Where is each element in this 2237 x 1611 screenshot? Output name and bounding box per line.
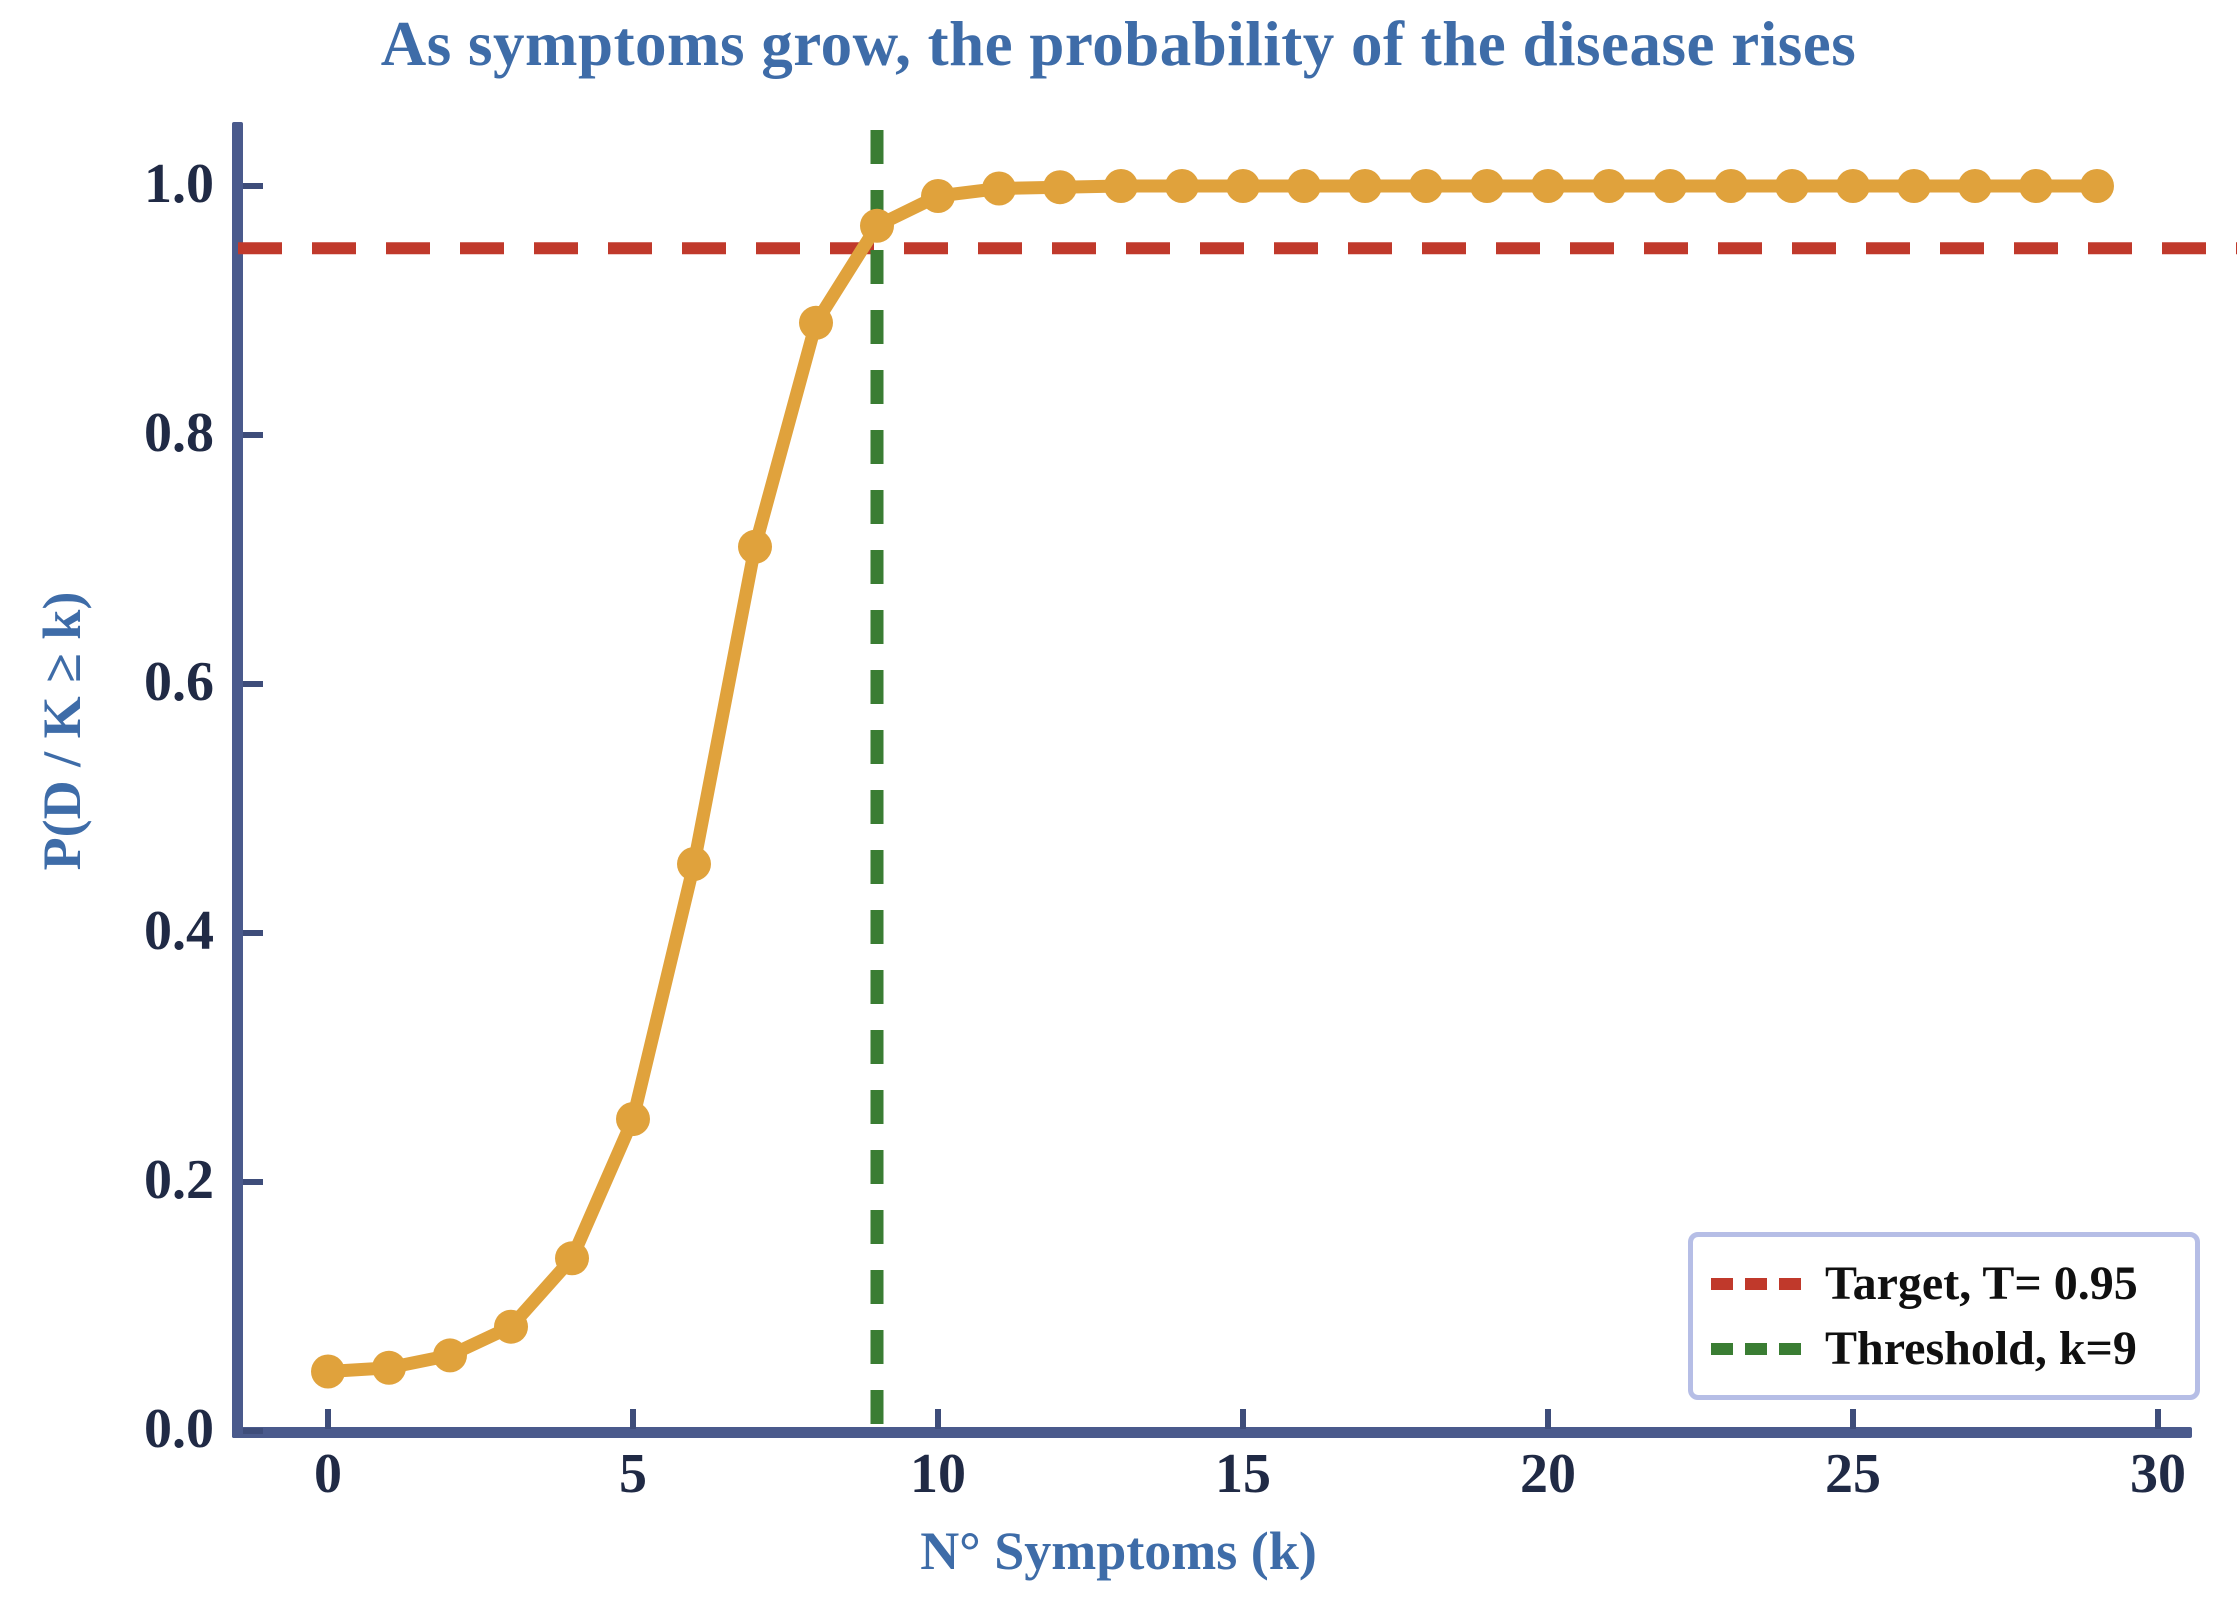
y-tick-label-0.2: 0.2 [24, 1148, 214, 1212]
y-tick-0.8 [243, 432, 263, 438]
data-point [982, 172, 1016, 206]
x-tick-0 [325, 1409, 331, 1429]
data-point [433, 1338, 467, 1372]
x-tick-label-30: 30 [2098, 1442, 2218, 1506]
legend-item-target[interactable]: Target, T= 0.95 [1711, 1253, 2177, 1315]
x-axis-spine [232, 1427, 2192, 1438]
x-tick-label-20: 20 [1488, 1442, 1608, 1506]
data-point [677, 847, 711, 881]
data-point [1165, 169, 1199, 203]
green-dashed-swatch-icon [1711, 1343, 1807, 1355]
data-point [2019, 169, 2053, 203]
y-tick-0.0 [243, 1428, 263, 1434]
y-tick-0.4 [243, 930, 263, 936]
red-dashed-swatch-icon [1711, 1278, 1807, 1290]
data-point [1287, 169, 1321, 203]
data-point [1531, 169, 1565, 203]
data-point [1409, 169, 1443, 203]
y-tick-0.6 [243, 681, 263, 687]
data-point [1958, 169, 1992, 203]
data-point [921, 179, 955, 213]
x-tick-30 [2155, 1409, 2161, 1429]
data-point [1592, 169, 1626, 203]
data-point [1714, 169, 1748, 203]
data-point [860, 209, 894, 243]
data-point [799, 306, 833, 340]
y-tick-1.0 [243, 183, 263, 189]
data-point [555, 1241, 589, 1275]
x-tick-25 [1850, 1409, 1856, 1429]
legend-label-threshold: Threshold, k=9 [1825, 1325, 2137, 1373]
data-point [1226, 169, 1260, 203]
x-tick-label-15: 15 [1183, 1442, 1303, 1506]
probability-curve [328, 186, 2097, 1372]
data-point [372, 1351, 406, 1385]
x-tick-10 [935, 1409, 941, 1429]
legend-label-target: Target, T= 0.95 [1825, 1260, 2138, 1308]
legend[interactable]: Target, T= 0.95 Threshold, k=9 [1688, 1232, 2200, 1400]
y-axis-spine [232, 122, 243, 1438]
chart-title: As symptoms grow, the probability of the… [0, 8, 2237, 81]
x-tick-label-0: 0 [268, 1442, 388, 1506]
x-axis-label: N° Symptoms (k) [0, 1520, 2237, 1582]
x-tick-label-10: 10 [878, 1442, 998, 1506]
x-tick-5 [630, 1409, 636, 1429]
data-point [1775, 169, 1809, 203]
data-point [616, 1102, 650, 1136]
x-tick-label-25: 25 [1793, 1442, 1913, 1506]
probability-markers [311, 169, 2114, 1389]
y-tick-label-0.0: 0.0 [24, 1397, 214, 1461]
data-point [494, 1310, 528, 1344]
x-tick-label-5: 5 [573, 1442, 693, 1506]
data-point [311, 1355, 345, 1389]
data-point [738, 530, 772, 564]
y-tick-label-1.0: 1.0 [24, 152, 214, 216]
data-point [1104, 169, 1138, 203]
data-point [1348, 169, 1382, 203]
x-tick-15 [1240, 1409, 1246, 1429]
data-point [1653, 169, 1687, 203]
legend-item-threshold[interactable]: Threshold, k=9 [1711, 1318, 2177, 1380]
y-tick-0.2 [243, 1179, 263, 1185]
data-point [1043, 170, 1077, 204]
y-axis-label: P(D / K ≥ k) [31, 381, 93, 1081]
chart-figure: As symptoms grow, the probability of the… [0, 0, 2237, 1611]
data-point [1470, 169, 1504, 203]
x-tick-20 [1545, 1409, 1551, 1429]
data-point [2080, 169, 2114, 203]
data-point [1836, 169, 1870, 203]
data-point [1897, 169, 1931, 203]
